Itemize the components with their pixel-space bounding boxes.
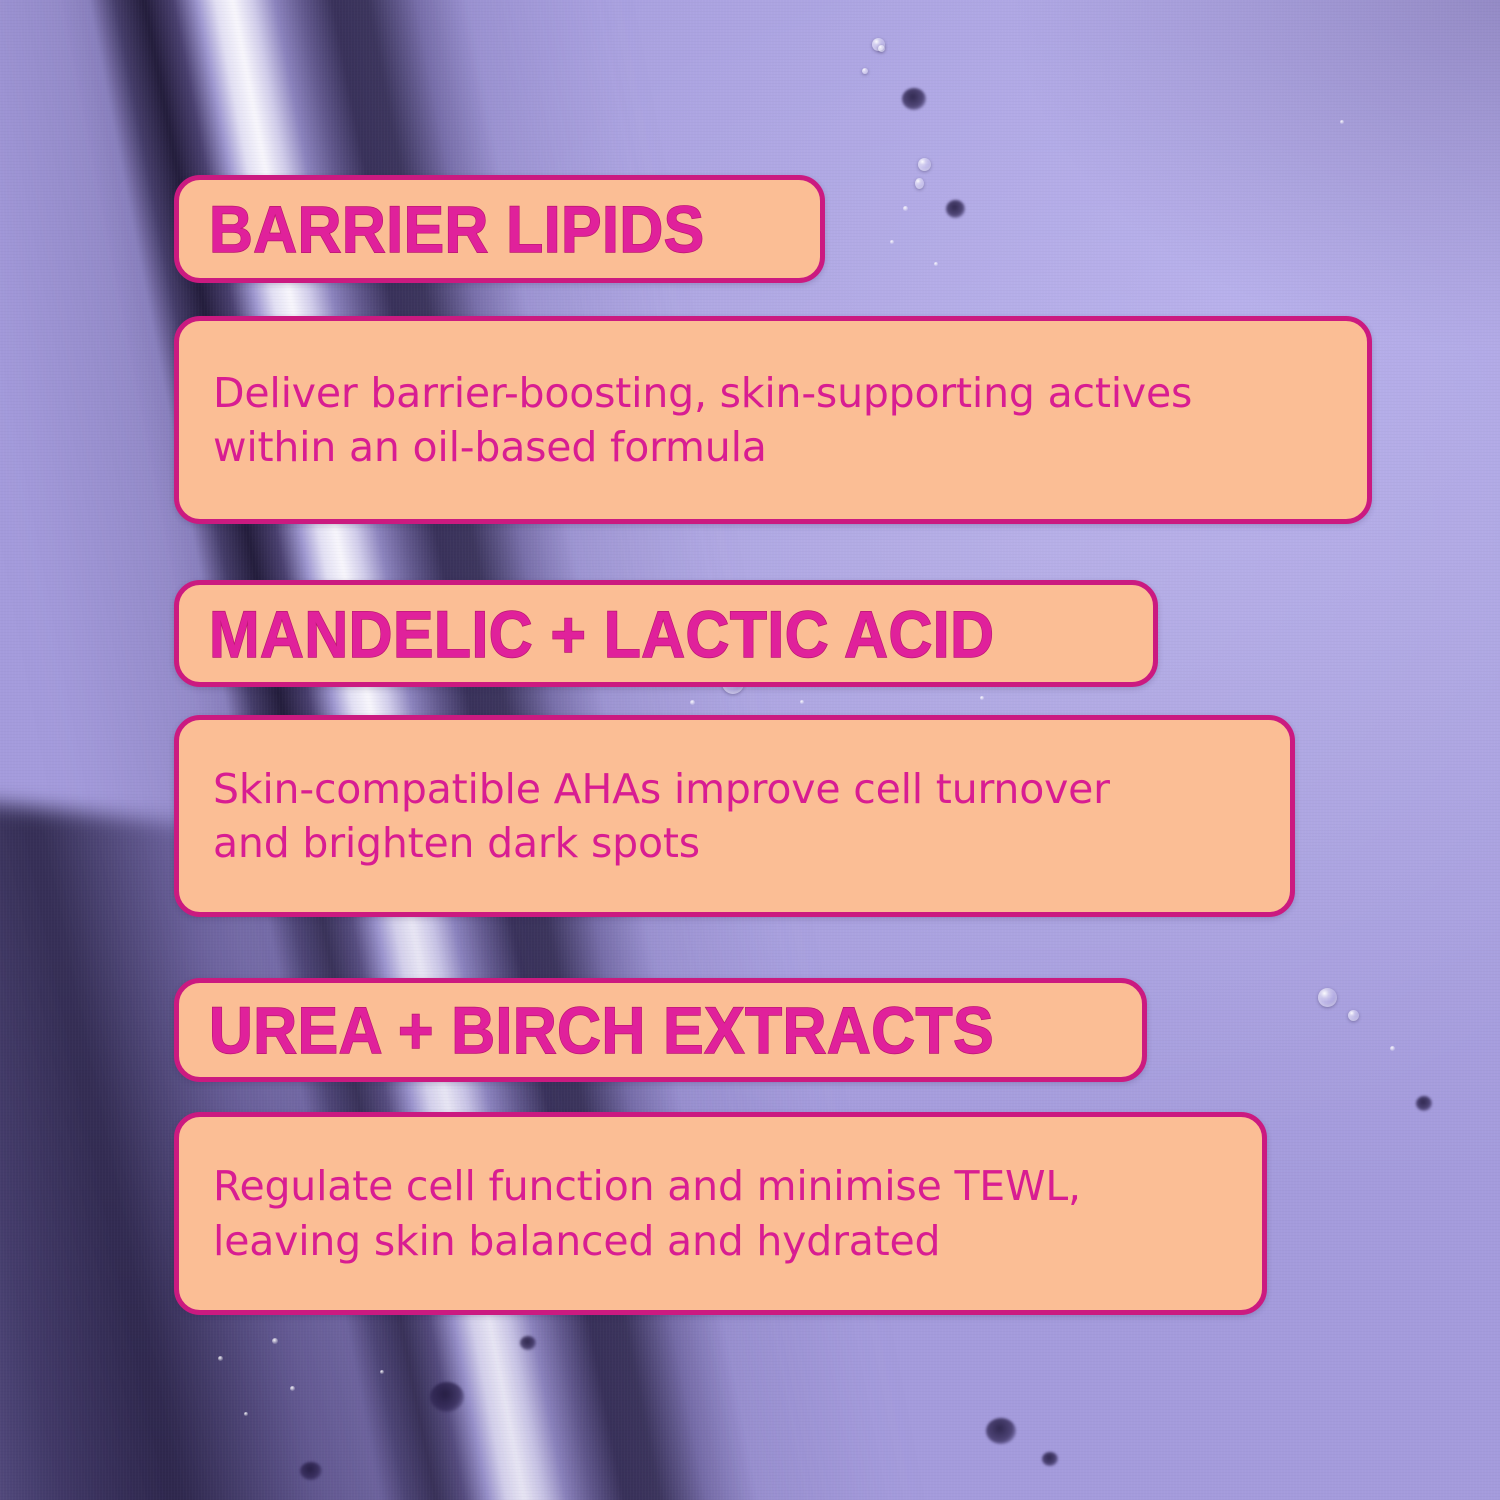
- dark-speck: [946, 200, 965, 218]
- sparkle-speck: [290, 1386, 295, 1391]
- callout-body-mandelic-lactic-acid: Skin-compatible AHAs improve cell turnov…: [174, 715, 1295, 917]
- water-droplet: [1318, 988, 1337, 1007]
- dark-speck: [1042, 1452, 1058, 1466]
- sparkle-speck: [980, 696, 984, 700]
- sparkle-speck: [272, 1338, 278, 1344]
- callout-heading-urea-birch-extracts: UREA + BIRCH EXTRACTS: [174, 978, 1147, 1082]
- dark-speck: [520, 1336, 536, 1350]
- water-droplet: [918, 158, 931, 171]
- sparkle-speck: [1390, 1046, 1395, 1051]
- heading-text: UREA + BIRCH EXTRACTS: [209, 997, 994, 1063]
- dark-speck: [430, 1382, 464, 1412]
- callout-heading-mandelic-lactic-acid: MANDELIC + LACTIC ACID: [174, 580, 1158, 687]
- body-text: Regulate cell function and minimise TEWL…: [213, 1159, 1081, 1267]
- dark-speck: [902, 88, 926, 110]
- body-text: Skin-compatible AHAs improve cell turnov…: [213, 762, 1110, 870]
- water-droplet: [1348, 1010, 1359, 1021]
- ingredient-benefits-graphic: BARRIER LIPIDS Deliver barrier-boosting,…: [0, 0, 1500, 1500]
- water-droplet: [862, 68, 868, 74]
- body-text: Deliver barrier-boosting, skin-supportin…: [213, 366, 1192, 474]
- sparkle-speck: [690, 700, 695, 705]
- heading-text: BARRIER LIPIDS: [209, 196, 705, 262]
- water-droplet: [915, 178, 924, 189]
- sparkle-speck: [934, 262, 938, 266]
- sparkle-speck: [244, 1412, 248, 1416]
- dark-speck: [1416, 1096, 1432, 1111]
- sparkle-speck: [903, 206, 908, 211]
- sparkle-speck: [1340, 120, 1344, 124]
- sparkle-speck: [218, 1356, 223, 1361]
- dark-speck: [986, 1418, 1016, 1444]
- dark-speck: [300, 1462, 322, 1480]
- sparkle-speck: [380, 1370, 384, 1374]
- water-droplet: [878, 45, 885, 52]
- callout-body-urea-birch-extracts: Regulate cell function and minimise TEWL…: [174, 1112, 1267, 1315]
- heading-text: MANDELIC + LACTIC ACID: [209, 601, 994, 667]
- callout-heading-barrier-lipids: BARRIER LIPIDS: [174, 175, 825, 283]
- sparkle-speck: [890, 240, 894, 244]
- callout-body-barrier-lipids: Deliver barrier-boosting, skin-supportin…: [174, 316, 1372, 524]
- sparkle-speck: [800, 700, 804, 704]
